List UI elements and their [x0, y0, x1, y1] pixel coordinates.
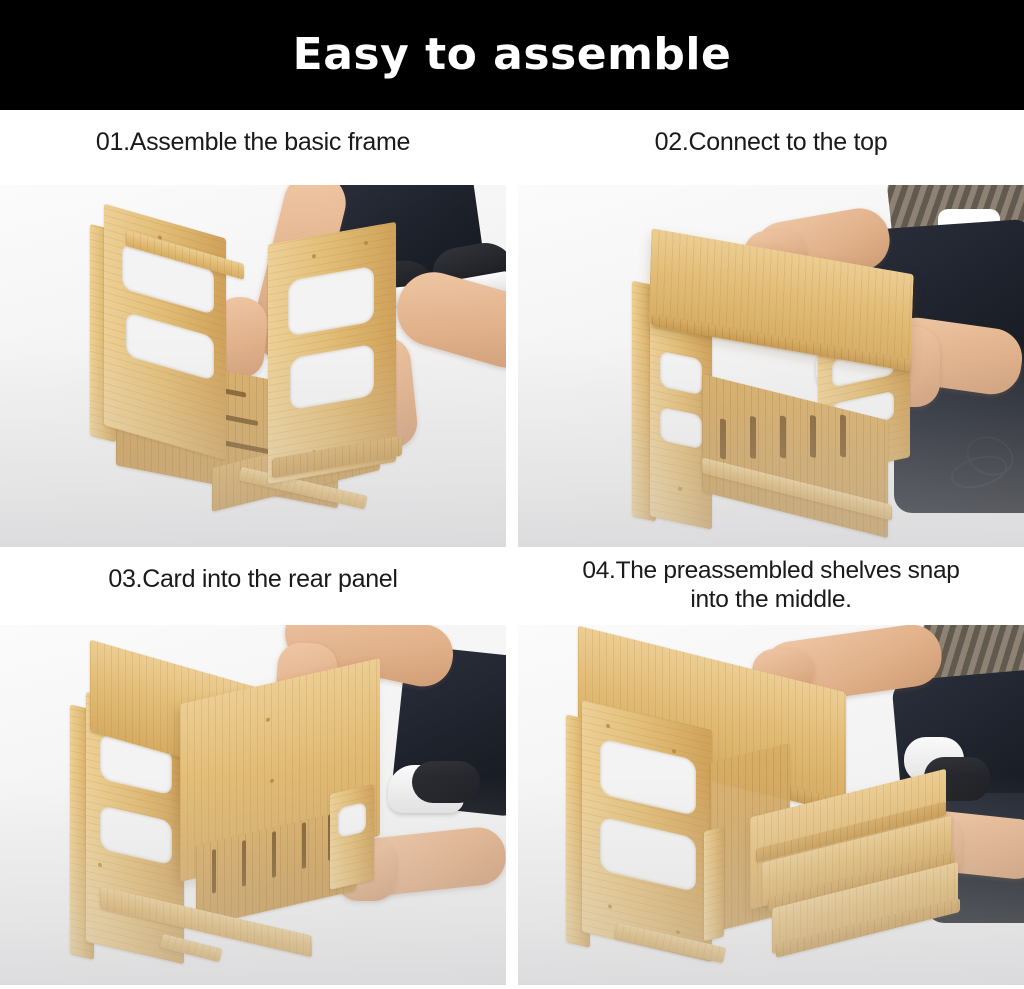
step-02-photo — [518, 185, 1024, 547]
header-banner: Easy to assemble — [0, 0, 1024, 110]
step-02: 02.Connect to the top — [518, 110, 1024, 547]
product-instruction-infographic: Easy to assemble 01.Assemble the basic f… — [0, 0, 1024, 989]
step-04-caption-line-2: into the middle. — [522, 586, 1020, 615]
step-02-caption: 02.Connect to the top — [518, 110, 1024, 185]
step-03-photo — [0, 625, 506, 985]
right-side-panel — [330, 784, 374, 890]
page-title: Easy to assemble — [293, 33, 732, 77]
step-03-caption: 03.Card into the rear panel — [0, 547, 506, 625]
step-01-photo — [0, 185, 506, 547]
step-04-photo — [518, 625, 1024, 985]
step-04-caption-line-1: 04.The preassembled shelves snap — [522, 557, 1020, 586]
interior-rib — [704, 827, 724, 942]
steps-grid: 01.Assemble the basic frame — [0, 110, 1024, 989]
step-03: 03.Card into the rear panel — [0, 547, 506, 989]
black-sneaker — [412, 761, 480, 803]
left-side-panel — [582, 700, 712, 962]
step-01-caption: 01.Assemble the basic frame — [0, 110, 506, 185]
step-04-caption: 04.The preassembled shelves snap into th… — [518, 547, 1024, 625]
step-01: 01.Assemble the basic frame — [0, 110, 506, 547]
step-04: 04.The preassembled shelves snap into th… — [518, 547, 1024, 989]
